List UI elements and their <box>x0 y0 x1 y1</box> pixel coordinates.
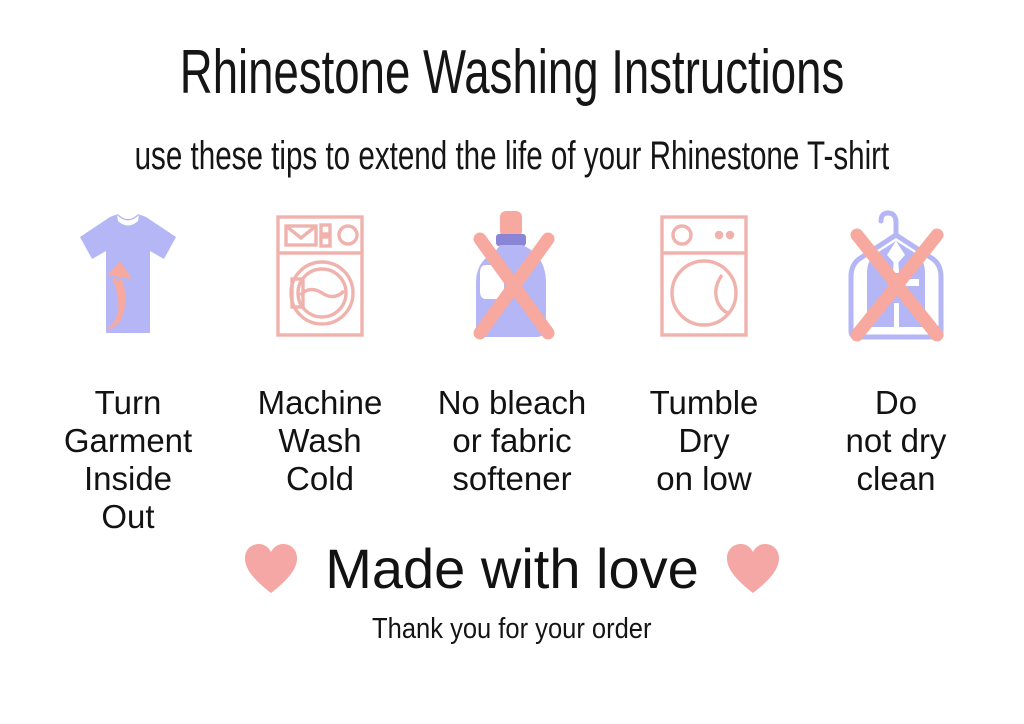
tumble-dryer-icon <box>644 206 764 346</box>
instruction-label: Turn Garment Inside Out <box>64 384 192 536</box>
instruction-item-machine-wash: Machine Wash Cold <box>224 206 416 498</box>
tshirt-inside-out-icon <box>68 206 188 346</box>
heart-icon <box>243 543 299 595</box>
page-title-text: Rhinestone Washing Instructions <box>180 38 844 108</box>
made-with-love-text: Made with love <box>325 538 699 600</box>
instruction-item-tumble-dry: Tumble Dry on low <box>608 206 800 498</box>
heart-icon <box>725 543 781 595</box>
instruction-item-no-dry-clean: Do not dry clean <box>800 206 992 498</box>
made-with-love-row: Made with love <box>0 538 1024 600</box>
no-bleach-bottle-icon <box>452 206 572 346</box>
instruction-columns: Turn Garment Inside Out <box>32 206 992 536</box>
washing-machine-icon <box>260 206 380 346</box>
instruction-item-turn-inside-out: Turn Garment Inside Out <box>32 206 224 536</box>
page-subtitle: use these tips to extend the life of you… <box>0 133 1024 179</box>
thank-you-text: Thank you for your order <box>372 612 651 646</box>
instruction-label: Machine Wash Cold <box>258 384 383 498</box>
instruction-label: Tumble Dry on low <box>650 384 759 498</box>
instruction-label: No bleach or fabric softener <box>438 384 587 498</box>
thank-you-note: Thank you for your order <box>0 612 1024 646</box>
no-dry-clean-icon <box>836 206 956 346</box>
page-subtitle-text: use these tips to extend the life of you… <box>135 133 890 179</box>
page-title: Rhinestone Washing Instructions <box>0 38 1024 108</box>
washing-instructions-card: Rhinestone Washing Instructions use thes… <box>0 0 1024 724</box>
instruction-item-no-bleach: No bleach or fabric softener <box>416 206 608 498</box>
instruction-label: Do not dry clean <box>846 384 947 498</box>
